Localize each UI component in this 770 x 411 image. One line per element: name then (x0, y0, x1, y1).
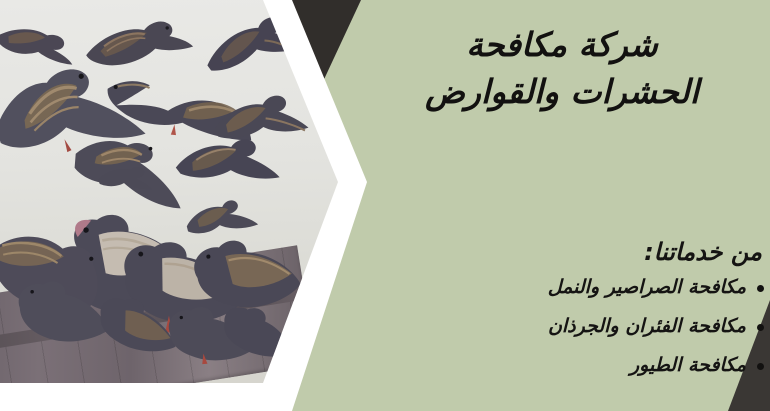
pest-control-banner: شركة مكافحة الحشرات والقوارض من خدماتنا:… (0, 0, 770, 411)
list-item: مكافحة الصراصير والنمل (378, 276, 770, 298)
list-item: مكافحة الفئران والجرذان (378, 315, 770, 337)
page-title-line-1: شركة مكافحة (372, 22, 752, 69)
content-column: شركة مكافحة الحشرات والقوارض من خدماتنا:… (372, 0, 770, 411)
services-list: مكافحة الصراصير والنمل مكافحة الفئران وا… (378, 276, 770, 393)
page-title: شركة مكافحة الحشرات والقوارض (372, 22, 752, 116)
page-title-line-2: الحشرات والقوارض (372, 69, 752, 116)
services-heading: من خدماتنا: (644, 238, 762, 266)
pigeon-icon (95, 160, 154, 195)
list-item: مكافحة الطيور (378, 354, 770, 376)
